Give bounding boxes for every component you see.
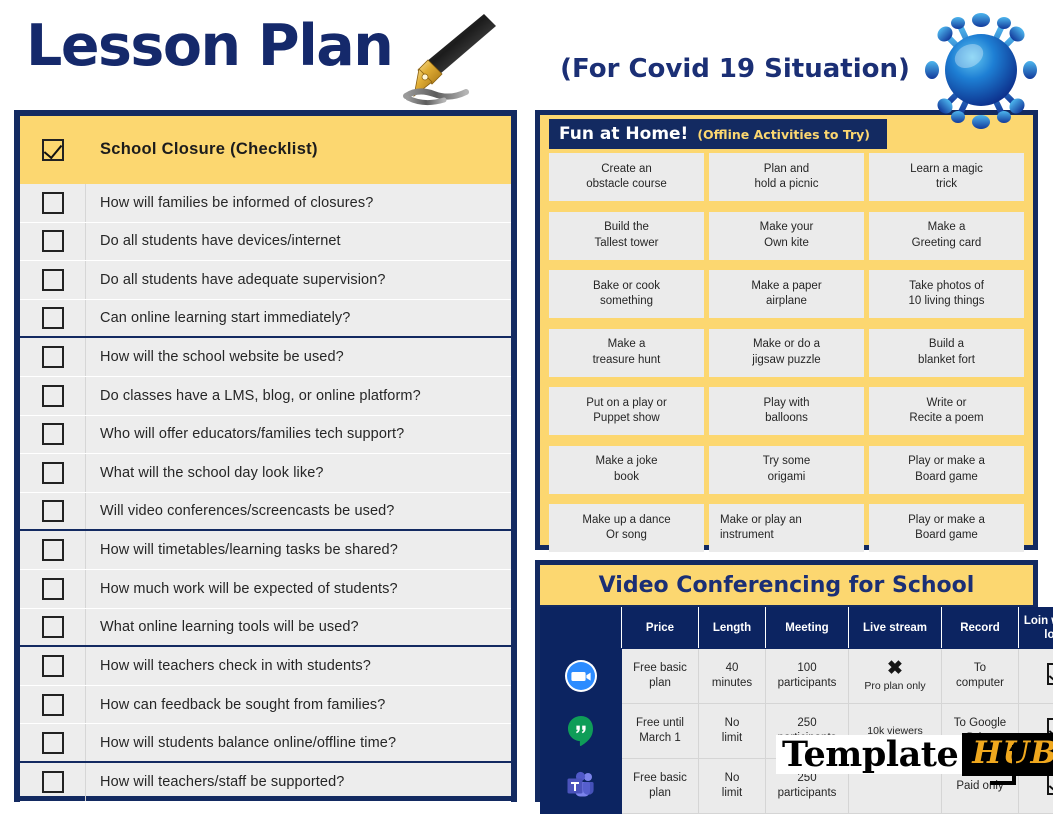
activity-line-1: Plan and — [764, 162, 809, 177]
activity-line-1: Write or — [926, 396, 966, 411]
checklist-item-label: Do all students have devices/internet — [86, 233, 341, 249]
fun-at-home-header: Fun at Home! (Offline Activities to Try) — [549, 119, 887, 149]
price-line-2: plan — [623, 676, 697, 691]
watermark-word-template: Template — [776, 735, 962, 774]
meeting-line-1: 100 — [767, 661, 847, 676]
cell-price: Free basicplan — [622, 649, 699, 704]
checklist-checkbox-cell[interactable] — [20, 493, 86, 530]
checkbox-empty-icon[interactable] — [42, 732, 64, 754]
checklist-item-label: Will video conferences/screencasts be us… — [86, 503, 394, 519]
col-header-live-stream: Live stream — [849, 608, 942, 649]
checklist-checkbox-cell[interactable] — [20, 763, 86, 801]
fun-at-home-title: Fun at Home! — [559, 124, 688, 144]
activity-card[interactable]: Make aGreeting card — [869, 212, 1024, 260]
length-line-2: limit — [700, 731, 764, 746]
checkbox-empty-icon[interactable] — [42, 307, 64, 329]
checkbox-empty-icon[interactable] — [42, 694, 64, 716]
activity-card[interactable]: Build ablanket fort — [869, 329, 1024, 377]
checklist-item-label: How will students balance online/offline… — [86, 735, 396, 751]
cell-live-stream: ✖Pro plan only — [849, 649, 942, 704]
activity-line-1: Make a joke — [595, 454, 657, 469]
activity-card[interactable]: Learn a magictrick — [869, 153, 1024, 201]
checkbox-empty-icon[interactable] — [42, 500, 64, 522]
checklist-header-label: School Closure (Checklist) — [86, 140, 318, 159]
col-header-meeting: Meeting — [766, 608, 849, 649]
checklist-header-checkbox-cell[interactable] — [20, 116, 86, 183]
checklist-checkbox-cell[interactable] — [20, 724, 86, 761]
checklist-item-label: How will timetables/learning tasks be sh… — [86, 542, 398, 558]
checklist-item-label: How can feedback be sought from families… — [86, 697, 385, 713]
checklist-item-label: How will the school website be used? — [86, 349, 344, 365]
checklist-item-label: How will families be informed of closure… — [86, 195, 373, 211]
activity-line-1: Play or make a — [908, 454, 985, 469]
checkbox-empty-icon[interactable] — [42, 230, 64, 252]
activity-line-1: Make a — [928, 220, 966, 235]
table-body: Free basicplan40minutes100participants✖P… — [541, 649, 1053, 814]
length-line-1: 40 — [700, 661, 764, 676]
checklist-header-row: School Closure (Checklist) — [20, 116, 511, 184]
activity-line-2: 10 living things — [908, 294, 984, 309]
activity-card[interactable]: Make up a danceOr song — [549, 504, 704, 552]
activity-line-1: Make up a dance — [582, 513, 670, 528]
col-header-price: Price — [622, 608, 699, 649]
checklist-item-label: What will the school day look like? — [86, 465, 324, 481]
record-line-1: To — [943, 661, 1017, 676]
activity-line-2: Board game — [915, 528, 978, 543]
checklist-row[interactable]: How will timetables/learning tasks be sh… — [20, 531, 511, 570]
activity-line-2: obstacle course — [586, 177, 667, 192]
checklist-row[interactable]: Do classes have a LMS, blog, or online p… — [20, 377, 511, 416]
cell-google-hangouts-icon — [541, 704, 622, 759]
activity-card[interactable]: Make yourOwn kite — [709, 212, 864, 260]
checklist-row[interactable]: How will teachers/staff be supported? — [20, 763, 511, 802]
activity-card[interactable]: Play withballoons — [709, 387, 864, 435]
col-header-length: Length — [699, 608, 766, 649]
activity-line-2: Own kite — [764, 236, 809, 251]
checklist-item-label: How will teachers check in with students… — [86, 658, 371, 674]
length-line-2: limit — [700, 786, 764, 801]
checklist-item-label: Do classes have a LMS, blog, or online p… — [86, 388, 421, 404]
checklist-checkbox-cell[interactable] — [20, 686, 86, 724]
activity-line-2: Greeting card — [912, 236, 982, 251]
checklist-checkbox-cell[interactable] — [20, 261, 86, 299]
video-conferencing-title: Video Conferencing for School — [599, 573, 975, 598]
activity-card[interactable]: Create anobstacle course — [549, 153, 704, 201]
activity-line-1: Create an — [601, 162, 652, 177]
template-hub-watermark: Template HUB — [776, 733, 1053, 776]
checklist-row[interactable]: What online learning tools will be used? — [20, 609, 511, 648]
meeting-line-1: 250 — [767, 716, 847, 731]
record-line-1: To Google — [943, 716, 1017, 731]
activity-line-1: Learn a magic — [910, 162, 983, 177]
activity-grid: Create anobstacle coursePlan andhold a p… — [549, 153, 1024, 552]
checklist-rows: How will families be informed of closure… — [20, 184, 511, 802]
activity-card[interactable]: Try someorigami — [709, 446, 864, 494]
activity-line-2: balloons — [765, 411, 808, 426]
activity-card[interactable]: Play or make aBoard game — [869, 504, 1024, 552]
activity-card[interactable]: Make a jokebook — [549, 446, 704, 494]
checklist-item-label: Do all students have adequate supervisio… — [86, 272, 386, 288]
activity-line-2: book — [614, 470, 639, 485]
activity-line-2: something — [600, 294, 653, 309]
checklist-checkbox-cell[interactable] — [20, 570, 86, 608]
activity-line-1: Make a — [608, 337, 646, 352]
checklist-item-label: Can online learning start immediately? — [86, 310, 350, 326]
checklist-checkbox-cell[interactable] — [20, 647, 86, 685]
col-header-icon — [541, 608, 622, 649]
activity-card[interactable]: Make a paperairplane — [709, 270, 864, 318]
checklist-row[interactable]: How much work will be expected of studen… — [20, 570, 511, 609]
activity-card[interactable]: Bake or cooksomething — [549, 270, 704, 318]
activity-line-2: treasure hunt — [593, 353, 661, 368]
checkbox-empty-icon[interactable] — [42, 385, 64, 407]
checklist-checkbox-cell[interactable] — [20, 454, 86, 492]
checklist-row[interactable]: Do all students have adequate supervisio… — [20, 261, 511, 300]
checklist-item-label: What online learning tools will be used? — [86, 619, 359, 635]
checkbox-checked-icon[interactable] — [1047, 773, 1053, 795]
checkbox-empty-icon[interactable] — [42, 269, 64, 291]
fun-at-home-subtitle: (Offline Activities to Try) — [697, 127, 870, 142]
microsoft-teams-icon — [542, 769, 620, 803]
table-header-row: Price Length Meeting Live stream Record … — [541, 608, 1053, 649]
cell-meeting: 100participants — [766, 649, 849, 704]
school-closure-checklist-panel: School Closure (Checklist) How will fami… — [14, 110, 517, 802]
checklist-checkbox-cell[interactable] — [20, 300, 86, 337]
fun-at-home-panel: Fun at Home! (Offline Activities to Try)… — [535, 110, 1038, 550]
cell-microsoft-teams-icon — [541, 759, 622, 814]
activity-line-2: instrument — [720, 528, 774, 543]
checklist-item-label: Who will offer educators/families tech s… — [86, 426, 404, 442]
activity-card[interactable]: Make or do ajigsaw puzzle — [709, 329, 864, 377]
activity-line-1: Build a — [929, 337, 964, 352]
length-line-2: minutes — [700, 676, 764, 691]
activity-card[interactable]: Write orRecite a poem — [869, 387, 1024, 435]
activity-line-1: Try some — [763, 454, 811, 469]
price-line-1: Free basic — [623, 771, 697, 786]
checklist-checkbox-cell[interactable] — [20, 609, 86, 646]
checklist-row[interactable]: Can online learning start immediately? — [20, 300, 511, 339]
cell-price: Free untilMarch 1 — [622, 704, 699, 759]
price-line-1: Free basic — [623, 661, 697, 676]
fountain-pen-icon — [388, 12, 498, 106]
checkbox-empty-icon[interactable] — [42, 578, 64, 600]
cell-record: Tocomputer — [942, 649, 1019, 704]
checklist-row[interactable]: What will the school day look like? — [20, 454, 511, 493]
checklist-item-label: How will teachers/staff be supported? — [86, 774, 344, 790]
activity-line-1: Make your — [760, 220, 814, 235]
activity-line-1: Play or make a — [908, 513, 985, 528]
checkbox-checked-icon[interactable] — [42, 139, 64, 161]
price-line-1: Free until — [623, 716, 697, 731]
price-line-2: plan — [623, 786, 697, 801]
length-line-1: No — [700, 771, 764, 786]
live-stream-note: Pro plan only — [850, 680, 940, 694]
covid-subtitle: (For Covid 19 Situation) — [560, 54, 910, 84]
activity-card[interactable]: Play or make aBoard game — [869, 446, 1024, 494]
checklist-checkbox-cell[interactable] — [20, 338, 86, 376]
activity-line-2: jigsaw puzzle — [752, 353, 820, 368]
activity-line-1: Put on a play or — [586, 396, 667, 411]
activity-line-1: Make or do a — [753, 337, 820, 352]
cross-icon: ✖ — [850, 659, 940, 678]
checklist-row[interactable]: How can feedback be sought from families… — [20, 686, 511, 725]
checkbox-empty-icon[interactable] — [42, 462, 64, 484]
checkbox-empty-icon[interactable] — [42, 423, 64, 445]
activity-card[interactable]: Take photos of10 living things — [869, 270, 1024, 318]
activity-line-2: airplane — [766, 294, 807, 309]
table-row: Free basicplan40minutes100participants✖P… — [541, 649, 1053, 704]
activity-line-2: Puppet show — [593, 411, 660, 426]
cell-length: Nolimit — [699, 704, 766, 759]
zoom-icon — [542, 659, 620, 693]
meeting-line-2: participants — [767, 786, 847, 801]
checklist-checkbox-cell[interactable] — [20, 223, 86, 261]
cell-price: Free basicplan — [622, 759, 699, 814]
price-line-2: March 1 — [623, 731, 697, 746]
coronavirus-icon — [918, 8, 1044, 134]
activity-line-2: blanket fort — [918, 353, 975, 368]
checklist-row[interactable]: How will the school website be used? — [20, 338, 511, 377]
page-title: Lesson Plan — [26, 18, 392, 75]
activity-card[interactable]: Make atreasure hunt — [549, 329, 704, 377]
google-hangouts-icon — [542, 714, 620, 748]
activity-line-1: Make or play an — [720, 513, 802, 528]
cell-length: 40minutes — [699, 649, 766, 704]
checklist-row[interactable]: How will families be informed of closure… — [20, 184, 511, 223]
activity-line-1: Take photos of — [909, 279, 984, 294]
checklist-checkbox-cell[interactable] — [20, 531, 86, 569]
checklist-item-label: How much work will be expected of studen… — [86, 581, 398, 597]
checkbox-empty-icon[interactable] — [42, 655, 64, 677]
activity-line-2: Recite a poem — [909, 411, 983, 426]
length-line-1: No — [700, 716, 764, 731]
meeting-line-2: participants — [767, 676, 847, 691]
checklist-checkbox-cell[interactable] — [20, 377, 86, 415]
activity-line-2: hold a picnic — [755, 177, 819, 192]
checkbox-checked-icon[interactable] — [1047, 663, 1053, 685]
checklist-row[interactable]: How will students balance online/offline… — [20, 724, 511, 763]
activity-line-2: Tallest tower — [595, 236, 659, 251]
checklist-row[interactable]: Will video conferences/screencasts be us… — [20, 493, 511, 532]
activity-card[interactable]: Plan andhold a picnic — [709, 153, 864, 201]
cell-loin-without-login[interactable] — [1019, 649, 1053, 704]
activity-line-1: Play with — [763, 396, 809, 411]
video-conferencing-table: Price Length Meeting Live stream Record … — [540, 607, 1053, 814]
video-conferencing-title-bar: Video Conferencing for School — [540, 565, 1033, 607]
record-line-2: computer — [943, 676, 1017, 691]
checkbox-empty-icon[interactable] — [42, 616, 64, 638]
cell-length: Nolimit — [699, 759, 766, 814]
activity-line-2: trick — [936, 177, 957, 192]
activity-line-2: Board game — [915, 470, 978, 485]
activity-card[interactable]: Make or play aninstrument — [709, 504, 864, 552]
col-header-record: Record — [942, 608, 1019, 649]
activity-line-2: Or song — [606, 528, 647, 543]
checklist-checkbox-cell[interactable] — [20, 184, 86, 222]
checkbox-empty-icon[interactable] — [42, 771, 64, 793]
checkbox-empty-icon[interactable] — [42, 346, 64, 368]
checkbox-empty-icon[interactable] — [42, 192, 64, 214]
activity-line-1: Make a paper — [751, 279, 821, 294]
col-header-loin-without-login: Loin without login — [1019, 608, 1053, 649]
activity-card[interactable]: Put on a play orPuppet show — [549, 387, 704, 435]
checkbox-empty-icon[interactable] — [42, 539, 64, 561]
activity-line-1: Bake or cook — [593, 279, 660, 294]
activity-line-2: origami — [768, 470, 806, 485]
checklist-checkbox-cell[interactable] — [20, 416, 86, 454]
checklist-row[interactable]: How will teachers check in with students… — [20, 647, 511, 686]
cell-zoom-icon — [541, 649, 622, 704]
checklist-row[interactable]: Do all students have devices/internet — [20, 223, 511, 262]
activity-card[interactable]: Build theTallest tower — [549, 212, 704, 260]
page-header: Lesson Plan (For Covid 19 S — [0, 0, 1053, 104]
checklist-row[interactable]: Who will offer educators/families tech s… — [20, 416, 511, 455]
watermark-bracket-icon — [990, 745, 1016, 785]
activity-line-1: Build the — [604, 220, 649, 235]
